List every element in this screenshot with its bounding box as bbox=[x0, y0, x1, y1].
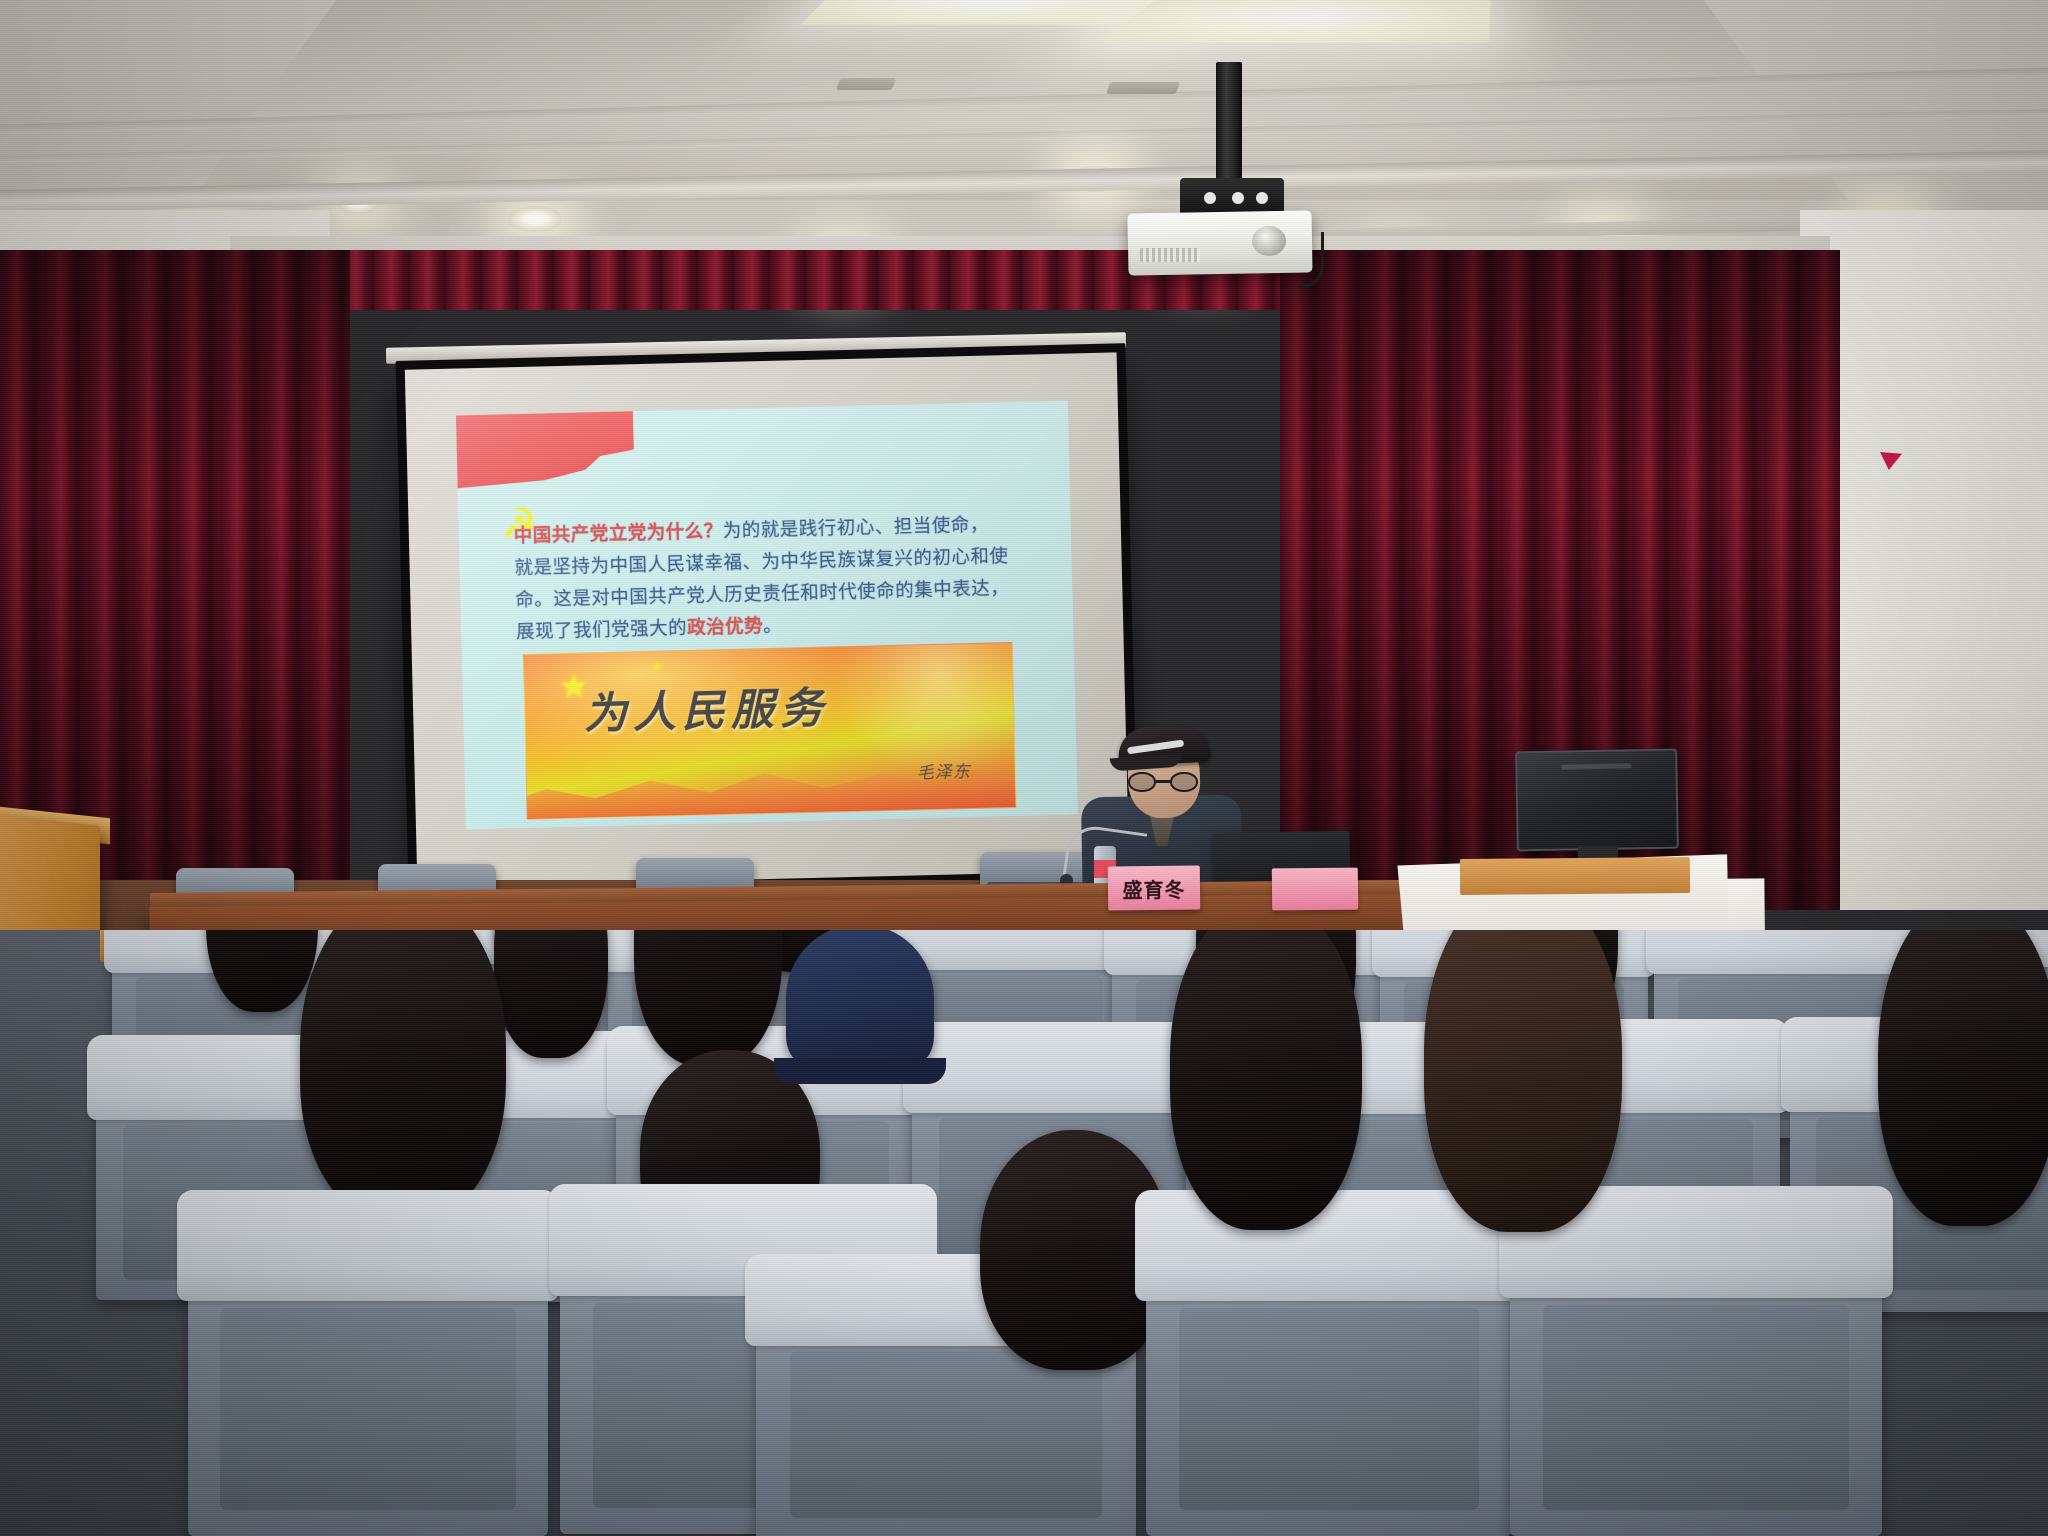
lectern-wood-panel bbox=[1460, 857, 1690, 895]
screen-surface: ☭ 中国共产党立党为什么？为的就是践行初心、担当使命，就是坚持为中国人民谋幸福、… bbox=[405, 352, 1129, 887]
presentation-slide: ☭ 中国共产党立党为什么？为的就是践行初心、担当使命，就是坚持为中国人民谋幸福、… bbox=[456, 400, 1078, 829]
ceiling-vent-1 bbox=[1106, 82, 1180, 94]
seat bbox=[1146, 1210, 1512, 1536]
glasses-icon bbox=[1128, 772, 1198, 792]
downlight-2 bbox=[508, 206, 562, 232]
seat bbox=[1510, 1206, 1882, 1536]
seat-cushion bbox=[220, 1308, 515, 1510]
audience-head bbox=[300, 930, 506, 1220]
audience-head bbox=[1424, 930, 1622, 1232]
cap-brim-icon bbox=[774, 1058, 946, 1084]
second-nameplate bbox=[1272, 868, 1358, 911]
seat-headrest-cover bbox=[1646, 930, 1924, 974]
audience-cap-navy bbox=[786, 930, 934, 1072]
seat-cushion bbox=[1179, 1308, 1479, 1510]
poster-calligraphy-text: 为人民服务 bbox=[583, 670, 975, 742]
projector-mount-pole bbox=[1216, 62, 1242, 182]
seat-headrest-cover bbox=[177, 1190, 559, 1301]
ceiling-vent-2 bbox=[836, 78, 896, 90]
seat bbox=[188, 1210, 548, 1536]
slide-highlight: 中国共产党立党为什么？ bbox=[514, 521, 723, 547]
seat-cushion bbox=[1543, 1305, 1848, 1510]
ceiling-light-panel-right bbox=[1103, 0, 1491, 43]
speaker-nameplate: 盛育冬 bbox=[1108, 866, 1200, 911]
audience-head bbox=[1878, 930, 2048, 1226]
slide-highlight: 政治优势 bbox=[687, 616, 764, 639]
projector-vent bbox=[1140, 248, 1200, 262]
projector-lens-icon bbox=[1252, 226, 1286, 256]
audience-area bbox=[0, 930, 2048, 1536]
desk-monitor[interactable] bbox=[1515, 749, 1679, 852]
ceiling-light-panel-left bbox=[800, 0, 1161, 25]
speaker-nameplate-text: 盛育冬 bbox=[1122, 873, 1185, 903]
audience-head bbox=[1170, 930, 1362, 1230]
seat-cushion bbox=[790, 1351, 1102, 1518]
projection-screen: ☭ 中国共产党立党为什么？为的就是践行初心、担当使命，就是坚持为中国人民谋幸福、… bbox=[396, 343, 1139, 897]
slide-paragraph: 中国共产党立党为什么？为的就是践行初心、担当使命，就是坚持为中国人民谋幸福、为中… bbox=[513, 509, 1043, 649]
poster-star-small-1: ★ bbox=[651, 660, 663, 673]
poster-signature: 毛泽东 bbox=[916, 757, 971, 783]
party-flag-banner bbox=[456, 400, 635, 494]
serve-the-people-poster: ★ ★ ★ 为人民服务 毛泽东 bbox=[523, 642, 1017, 820]
photo-scene: ☭ 中国共产党立党为什么？为的就是践行初心、担当使命，就是坚持为中国人民谋幸福、… bbox=[0, 0, 2048, 1536]
